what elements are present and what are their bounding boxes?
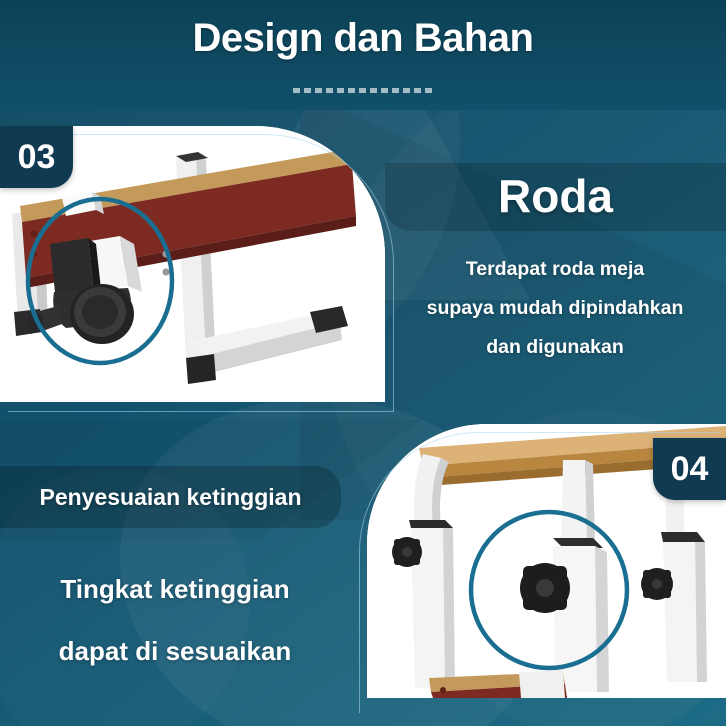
roda-heading: Roda — [385, 160, 726, 232]
roda-line-3: dan digunakan — [390, 328, 720, 367]
roda-description: Terdapat roda meja supaya mudah dipindah… — [390, 250, 720, 367]
dashed-divider-icon — [293, 88, 433, 93]
poster-canvas: Design dan Bahan — [0, 0, 726, 726]
adjust-line-1: Tingkat ketinggian — [10, 558, 340, 620]
adjust-description: Tingkat ketinggian dapat di sesuaikan — [10, 558, 340, 682]
badge-04: 04 — [653, 438, 726, 500]
badge-03: 03 — [0, 126, 73, 188]
roda-line-2: supaya mudah dipindahkan — [390, 289, 720, 328]
adjust-line-2: dapat di sesuaikan — [10, 620, 340, 682]
page-title: Design dan Bahan — [0, 16, 726, 61]
roda-line-1: Terdapat roda meja — [390, 250, 720, 289]
adjust-heading: Penyesuaian ketinggian — [0, 466, 341, 528]
